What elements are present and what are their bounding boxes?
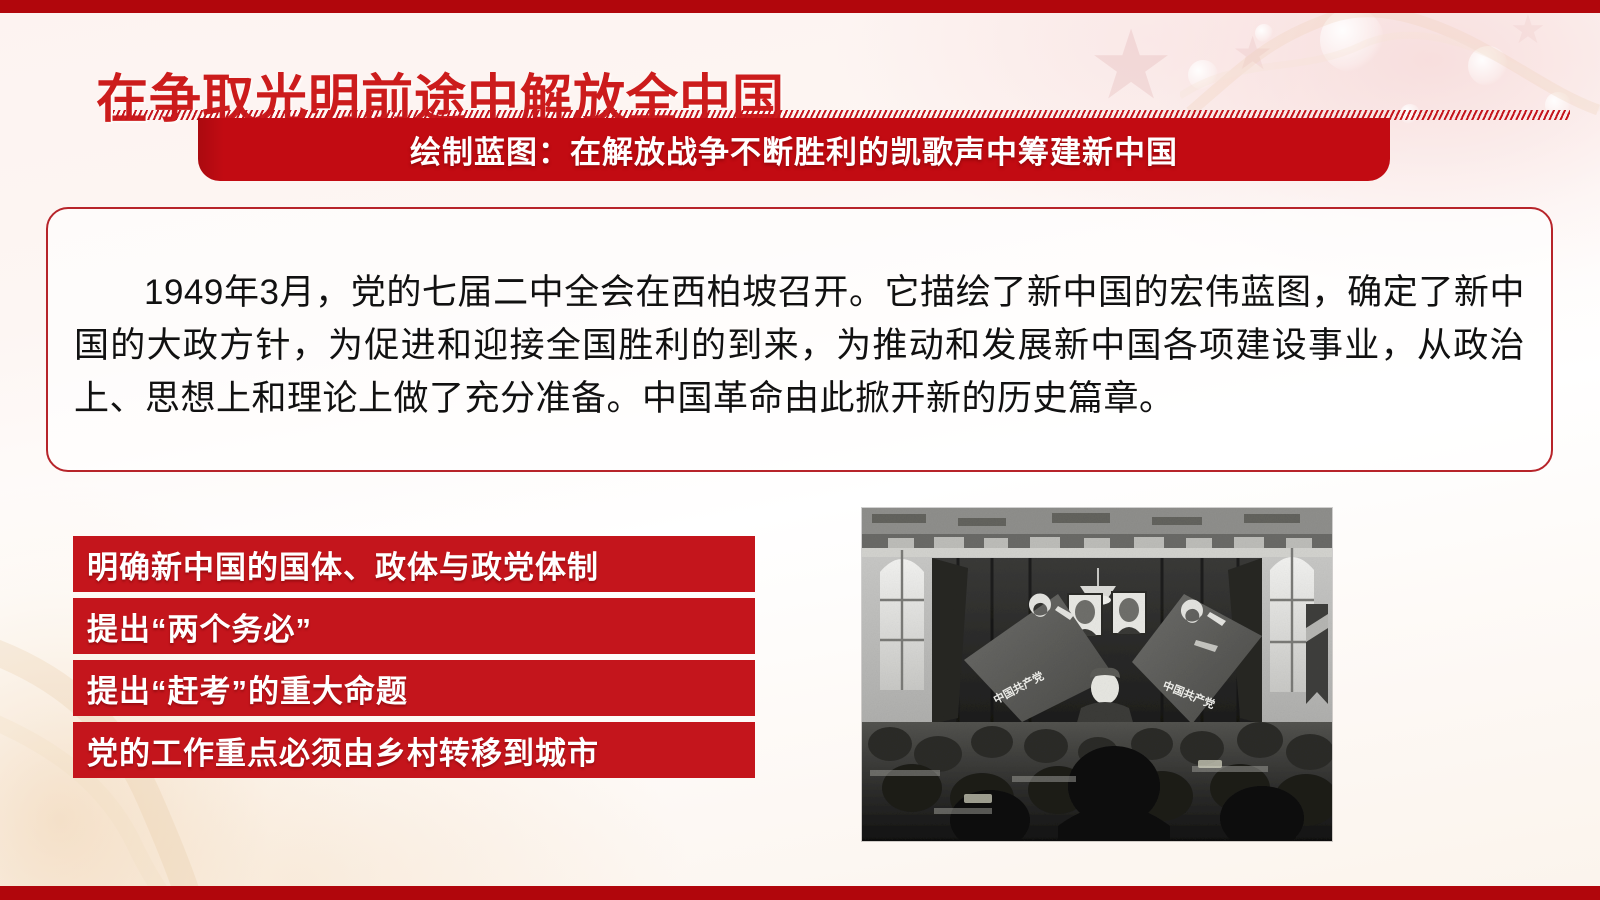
- list-item[interactable]: 提出“赶考”的重大命题: [73, 660, 755, 716]
- photo-illustration: 中国共产党 中国共产党: [862, 508, 1332, 841]
- paragraph-text: 1949年3月，党的七届二中全会在西柏坡召开。它描绘了新中国的宏伟蓝图，确定了新…: [74, 266, 1525, 426]
- list-item[interactable]: 明确新中国的国体、政体与政党体制: [73, 536, 755, 592]
- subtitle-banner: 绘制蓝图：在解放战争不断胜利的凯歌声中筹建新中国: [198, 118, 1390, 181]
- bokeh-decor: [1188, 60, 1218, 90]
- slide-root: ★ ★ ★ 在争取光明前途中解放全中国 绘制蓝图：在解放战争不断胜利的凯歌声中筹…: [0, 0, 1600, 900]
- star-decor: ★: [1232, 30, 1273, 76]
- star-decor: ★: [1510, 10, 1546, 50]
- list-item-label: 提出“赶考”的重大命题: [87, 666, 408, 711]
- bottom-accent-bar: [0, 886, 1600, 900]
- list-item-label: 提出“两个务必”: [87, 604, 312, 649]
- historical-photo: 中国共产党 中国共产党: [862, 508, 1332, 841]
- top-accent-bar: [0, 0, 1600, 13]
- star-decor: ★: [1088, 18, 1174, 114]
- key-points-list: 明确新中国的国体、政体与政党体制 提出“两个务必” 提出“赶考”的重大命题 党的…: [73, 536, 755, 778]
- bokeh-decor: [1320, 8, 1384, 72]
- subtitle-text: 绘制蓝图：在解放战争不断胜利的凯歌声中筹建新中国: [410, 127, 1178, 172]
- list-item-label: 党的工作重点必须由乡村转移到城市: [87, 728, 599, 773]
- list-item[interactable]: 提出“两个务必”: [73, 598, 755, 654]
- list-item[interactable]: 党的工作重点必须由乡村转移到城市: [73, 722, 755, 778]
- bokeh-decor: [1468, 46, 1508, 86]
- paragraph-card: 1949年3月，党的七届二中全会在西柏坡召开。它描绘了新中国的宏伟蓝图，确定了新…: [46, 207, 1553, 472]
- ribbon-decor: [1180, 0, 1600, 115]
- bokeh-decor: [1255, 24, 1273, 42]
- list-item-label: 明确新中国的国体、政体与政党体制: [87, 542, 599, 587]
